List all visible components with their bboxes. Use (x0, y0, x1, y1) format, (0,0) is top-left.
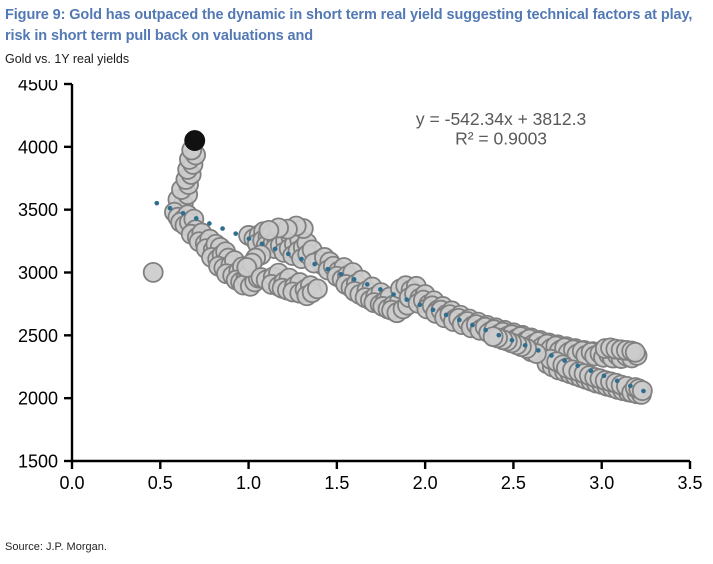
y-axis-tick-label: 3500 (18, 200, 58, 220)
scatter-point (626, 343, 645, 362)
x-axis-tick-label: 3.5 (677, 473, 702, 490)
figure-title: Figure 9: Gold has outpaced the dynamic … (5, 5, 705, 46)
chart-annotations: y = -542.34x + 3812.3R² = 0.9003 (416, 109, 586, 148)
y-axis-ticks: 1500200025003000350040004500 (18, 80, 72, 472)
r-squared: R² = 0.9003 (455, 128, 547, 148)
y-axis-tick-label: 1500 (18, 452, 58, 472)
latest-observation-point (185, 131, 204, 150)
x-axis-tick-label: 3.0 (589, 473, 614, 490)
y-axis-tick-label: 3000 (18, 263, 58, 283)
scatter-chart: 1500200025003000350040004500 0.00.51.01.… (0, 80, 713, 490)
y-axis-tick-label: 4000 (18, 137, 58, 157)
axes-layer (72, 84, 690, 461)
figure-subtitle: Gold vs. 1Y real yields (5, 52, 129, 66)
x-axis-tick-label: 0.0 (59, 473, 84, 490)
regression-equation: y = -542.34x + 3812.3 (416, 109, 586, 129)
y-axis-tick-label: 2000 (18, 389, 58, 409)
x-axis-ticks: 0.00.51.01.52.02.53.03.5 (59, 461, 702, 490)
scatter-points-layer (144, 131, 652, 404)
x-axis-tick-label: 1.0 (236, 473, 261, 490)
chart-plot-area: 1500200025003000350040004500 0.00.51.01.… (0, 80, 713, 490)
x-axis-tick-label: 1.5 (324, 473, 349, 490)
y-axis-tick-label: 4500 (18, 80, 58, 95)
scatter-point (144, 263, 163, 282)
scatter-point (308, 279, 327, 298)
scatter-point (259, 221, 278, 240)
x-axis-tick-label: 2.5 (501, 473, 526, 490)
x-axis-tick-label: 2.0 (413, 473, 438, 490)
y-axis-tick-label: 2500 (18, 326, 58, 346)
figure-container: Figure 9: Gold has outpaced the dynamic … (0, 0, 713, 564)
x-axis-tick-label: 0.5 (148, 473, 173, 490)
source-note: Source: J.P. Morgan. (5, 541, 107, 553)
highlight-point-layer (185, 131, 204, 150)
